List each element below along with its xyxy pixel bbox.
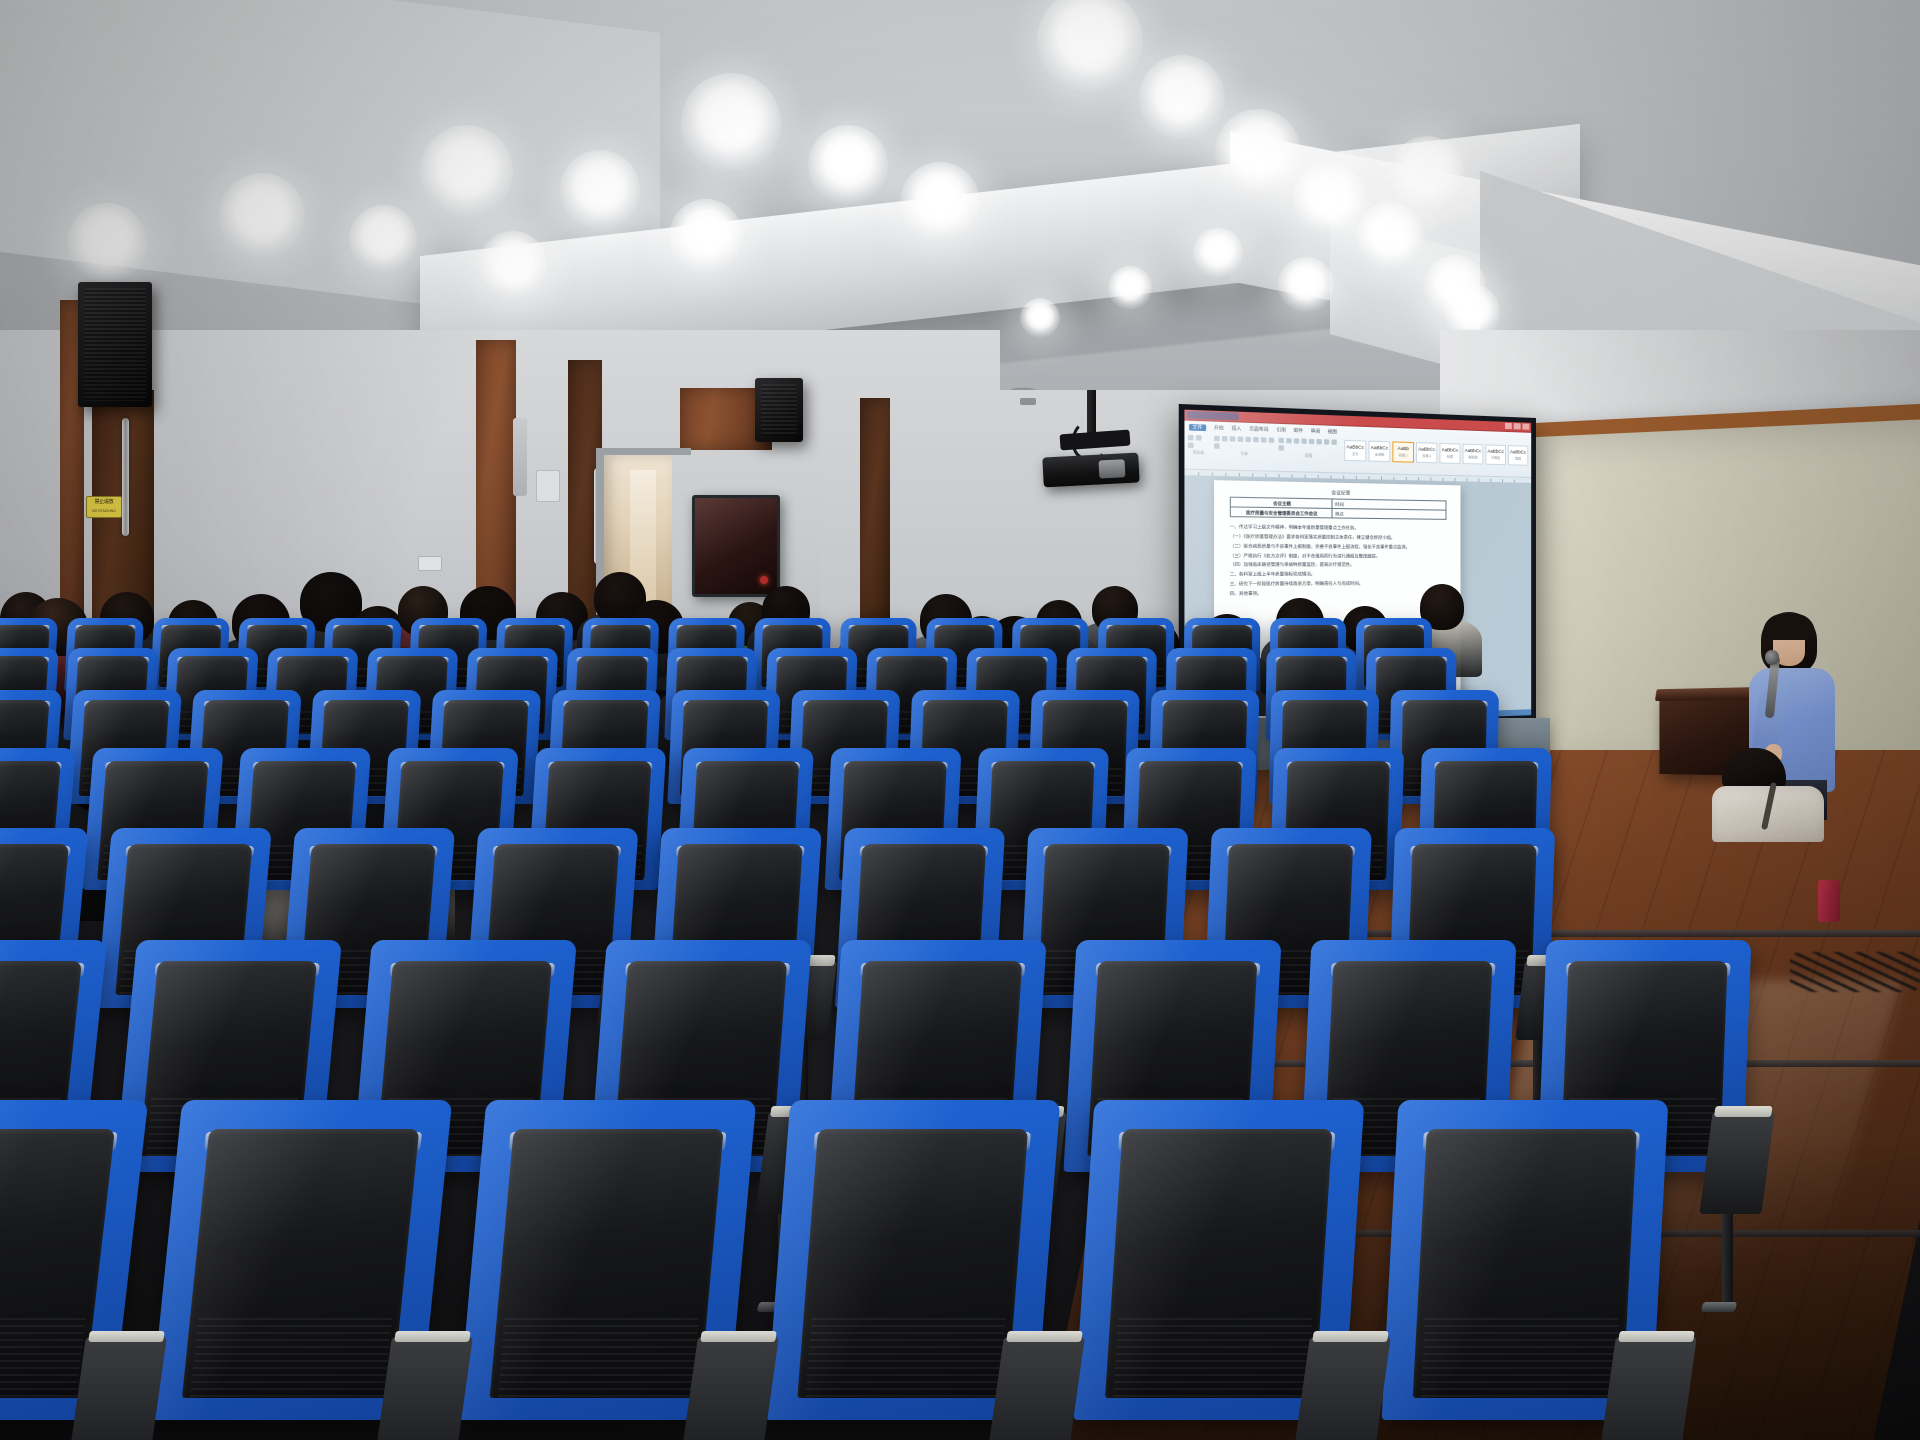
writing-tablet[interactable] xyxy=(394,1331,470,1342)
clear-format-icon[interactable] xyxy=(1214,443,1220,449)
ribbon-tab[interactable]: 插入 xyxy=(1232,425,1242,432)
table-cell-label: 医疗质量与安全管理委员会工作会议 xyxy=(1230,507,1332,518)
style-chip[interactable]: AaBbCc标题 xyxy=(1439,443,1460,464)
wall-switch-panel[interactable] xyxy=(536,470,560,502)
door-handle[interactable] xyxy=(122,418,129,536)
strikethrough-icon[interactable] xyxy=(1237,436,1243,442)
wall-speaker-small xyxy=(755,378,803,442)
ribbon-tab[interactable]: 邮件 xyxy=(1294,427,1304,434)
ceiling-mounted-projector xyxy=(1042,453,1139,488)
presenter-fringe xyxy=(1763,614,1815,640)
style-chip[interactable]: AaBbCc无间隔 xyxy=(1368,441,1390,462)
wall-outlet xyxy=(418,556,442,571)
style-preview-text: AaBbCc xyxy=(1510,450,1526,455)
underline-icon[interactable] xyxy=(1229,436,1235,442)
seat-leg xyxy=(1722,1200,1733,1307)
recessed-downlight-icon xyxy=(420,125,513,218)
style-preview-text: AaBb xyxy=(1397,447,1409,452)
recessed-downlight-icon xyxy=(681,73,780,172)
style-name-label: 标题 2 xyxy=(1422,453,1431,457)
font-color-icon[interactable] xyxy=(1260,437,1266,443)
style-chip[interactable]: AaBb标题 1 xyxy=(1392,441,1414,462)
wall-light-strip xyxy=(513,418,527,496)
subscript-icon[interactable] xyxy=(1245,437,1251,443)
document-paragraph: （一）《医疗质量管理办法》要求各科室落实质量控制主体责任，建立健全质控小组。 xyxy=(1230,533,1447,542)
recessed-downlight-icon xyxy=(1020,298,1060,338)
style-name-label: 不明显 xyxy=(1491,455,1500,459)
ribbon-group-label: 字体 xyxy=(1214,450,1275,457)
ceiling-hook xyxy=(1020,398,1036,405)
microphone-head-icon xyxy=(1765,650,1779,665)
paste-icon[interactable] xyxy=(1188,435,1194,441)
ribbon-tab[interactable]: 页面布局 xyxy=(1249,426,1268,433)
highlight-icon[interactable] xyxy=(1268,437,1273,443)
document-paragraph: （四）加强临床路径管理与单病种质量监控，提高诊疗规范性。 xyxy=(1230,562,1447,569)
seat-back-ribs xyxy=(1113,1318,1313,1401)
paragraph-icons[interactable] xyxy=(1279,438,1338,453)
style-name-label: 无间隔 xyxy=(1375,452,1384,456)
recessed-downlight-icon xyxy=(479,231,547,299)
style-name-label: 强调 xyxy=(1515,456,1521,460)
align-left-icon[interactable] xyxy=(1302,438,1307,443)
style-preview-text: AaBbCc xyxy=(1346,445,1364,450)
power-indicator-icon xyxy=(760,576,768,584)
document-paragraph: （三）严格执行《处方点评》制度，对不合理用药行为进行通报及整改跟踪。 xyxy=(1230,552,1447,560)
cut-icon[interactable] xyxy=(1196,435,1202,441)
seat-back-ribs xyxy=(189,1318,392,1401)
minimize-icon[interactable] xyxy=(1505,423,1512,429)
speaker-grille xyxy=(761,384,797,436)
style-chip[interactable]: AaBbCc副标题 xyxy=(1463,444,1484,465)
style-name-label: 标题 xyxy=(1447,454,1453,458)
close-icon[interactable] xyxy=(1522,423,1529,429)
style-chip[interactable]: AaBbCc标题 2 xyxy=(1416,442,1437,463)
style-chip[interactable]: AaBbCc强调 xyxy=(1508,445,1528,466)
projector-lens-icon xyxy=(1099,459,1126,478)
red-cup xyxy=(1818,880,1840,922)
styles-gallery[interactable]: AaBbCc正文AaBbCc无间隔AaBb标题 1AaBbCc标题 2AaBbC… xyxy=(1344,440,1528,466)
style-name-label: 标题 1 xyxy=(1399,453,1408,457)
style-preview-text: AaBbCc xyxy=(1442,448,1459,453)
bullets-icon[interactable] xyxy=(1279,438,1284,444)
writing-tablet[interactable] xyxy=(88,1331,164,1342)
style-name-label: 副标题 xyxy=(1468,455,1477,459)
ribbon-group-clipboard[interactable]: 剪贴板 xyxy=(1188,435,1209,455)
seat-back-ribs xyxy=(0,1318,86,1401)
document-paragraph: 一、传达学习上级文件精神，明确本年度质量管理重点工作任务。 xyxy=(1230,524,1447,533)
style-preview-text: AaBbCc xyxy=(1371,446,1389,451)
table-cell-value: 地点 xyxy=(1332,509,1446,520)
recessed-downlight-icon xyxy=(1390,136,1464,210)
floor-cables xyxy=(1790,952,1920,992)
writing-tablet[interactable] xyxy=(1618,1331,1694,1342)
document-paragraph-list: 一、传达学习上级文件精神，明确本年度质量管理重点工作任务。（一）《医疗质量管理办… xyxy=(1230,524,1447,598)
wall-speaker xyxy=(78,282,152,407)
seat-back-ribs xyxy=(497,1318,699,1401)
writing-tablet[interactable] xyxy=(1715,1106,1773,1117)
ribbon-group-paragraph[interactable]: 段落 xyxy=(1279,438,1338,459)
ribbon-group-label: 剪贴板 xyxy=(1188,449,1209,455)
style-preview-text: AaBbCc xyxy=(1465,449,1482,454)
recessed-downlight-icon xyxy=(1356,202,1424,270)
recessed-downlight-icon xyxy=(349,205,417,273)
superscript-icon[interactable] xyxy=(1253,437,1259,443)
ribbon-tab[interactable]: 审阅 xyxy=(1311,428,1320,435)
recessed-downlight-icon xyxy=(1293,162,1367,236)
line-spacing-icon[interactable] xyxy=(1324,439,1329,444)
ribbon-group-label: 段落 xyxy=(1279,452,1338,459)
recessed-downlight-icon xyxy=(669,199,743,273)
recessed-downlight-icon xyxy=(1215,109,1302,196)
safety-sign: 禁止堤放 NO STACKING xyxy=(86,496,122,518)
ribbon-tab[interactable]: 开始 xyxy=(1214,424,1224,431)
table-row: 医疗质量与安全管理委员会工作会议地点 xyxy=(1230,507,1446,520)
recessed-downlight-icon xyxy=(219,173,306,260)
ribbon-tab[interactable]: 文件 xyxy=(1189,423,1206,430)
document-paragraph: 二、各科室上报上半年质量指标完成情况。 xyxy=(1230,571,1447,578)
writing-tablet[interactable] xyxy=(1312,1331,1388,1342)
multilevel-icon[interactable] xyxy=(1294,438,1299,443)
writing-tablet[interactable] xyxy=(1006,1331,1082,1342)
style-chip[interactable]: AaBbCc正文 xyxy=(1344,440,1366,462)
document-paragraph: 四、其他事项。 xyxy=(1230,589,1447,597)
quick-access-toolbar[interactable] xyxy=(1187,411,1239,421)
numbering-icon[interactable] xyxy=(1286,438,1291,443)
clipboard-icons[interactable] xyxy=(1188,435,1209,449)
seat-back-ribs xyxy=(805,1318,1006,1401)
maximize-icon[interactable] xyxy=(1514,423,1521,429)
auditorium-scene: 禁止堤放 NO STACKING 文件开始插入页面布局引用邮件审阅视图 xyxy=(0,0,1920,1440)
recessed-downlight-icon xyxy=(900,162,981,243)
style-preview-text: AaBbCc xyxy=(1487,450,1504,455)
ribbon-tab[interactable]: 视图 xyxy=(1328,428,1337,435)
recessed-downlight-icon xyxy=(1108,266,1151,309)
writing-tablet[interactable] xyxy=(700,1331,776,1342)
ribbon-group-font[interactable]: 字体 xyxy=(1214,436,1275,457)
safety-sign-line2: NO STACKING xyxy=(87,507,121,516)
style-preview-text: AaBbCc xyxy=(1418,448,1435,453)
wall-display-panel xyxy=(692,495,780,597)
recessed-downlight-icon xyxy=(560,150,641,231)
recessed-downlight-icon xyxy=(808,125,889,206)
shading-icon[interactable] xyxy=(1332,439,1337,444)
bold-icon[interactable] xyxy=(1214,436,1220,442)
font-icons[interactable] xyxy=(1214,436,1275,451)
safety-sign-line1: 禁止堤放 xyxy=(87,497,121,507)
style-name-label: 正文 xyxy=(1352,451,1358,455)
style-chip[interactable]: AaBbCc不明显 xyxy=(1485,444,1506,465)
seat-floor-mount xyxy=(1701,1302,1737,1312)
document-paragraph: （二）联合病案质量与不良事件上报制度，完善不良事件上报流程，强化不良事件重点监测… xyxy=(1230,543,1447,551)
borders-icon[interactable] xyxy=(1279,445,1284,450)
speaker-grille xyxy=(84,288,146,401)
recessed-downlight-icon xyxy=(1278,257,1334,313)
recessed-downlight-icon xyxy=(1139,55,1226,142)
seat-back-ribs xyxy=(1420,1318,1619,1401)
align-center-icon[interactable] xyxy=(1309,439,1314,444)
align-right-icon[interactable] xyxy=(1317,439,1322,444)
wall-wood-panel xyxy=(860,398,890,618)
document-paragraph: 三、研究下一阶段医疗质量持续改进方案，明确责任人与完成时间。 xyxy=(1230,580,1447,588)
recessed-downlight-icon xyxy=(1193,228,1243,278)
copy-icon[interactable] xyxy=(1188,442,1194,448)
document-table: 会议主题时间医疗质量与安全管理委员会工作会议地点 xyxy=(1230,497,1447,520)
recessed-downlight-icon xyxy=(67,203,148,284)
front-row-attendee xyxy=(1712,748,1824,838)
ribbon-tab[interactable]: 引用 xyxy=(1276,426,1286,433)
italic-icon[interactable] xyxy=(1221,436,1227,442)
